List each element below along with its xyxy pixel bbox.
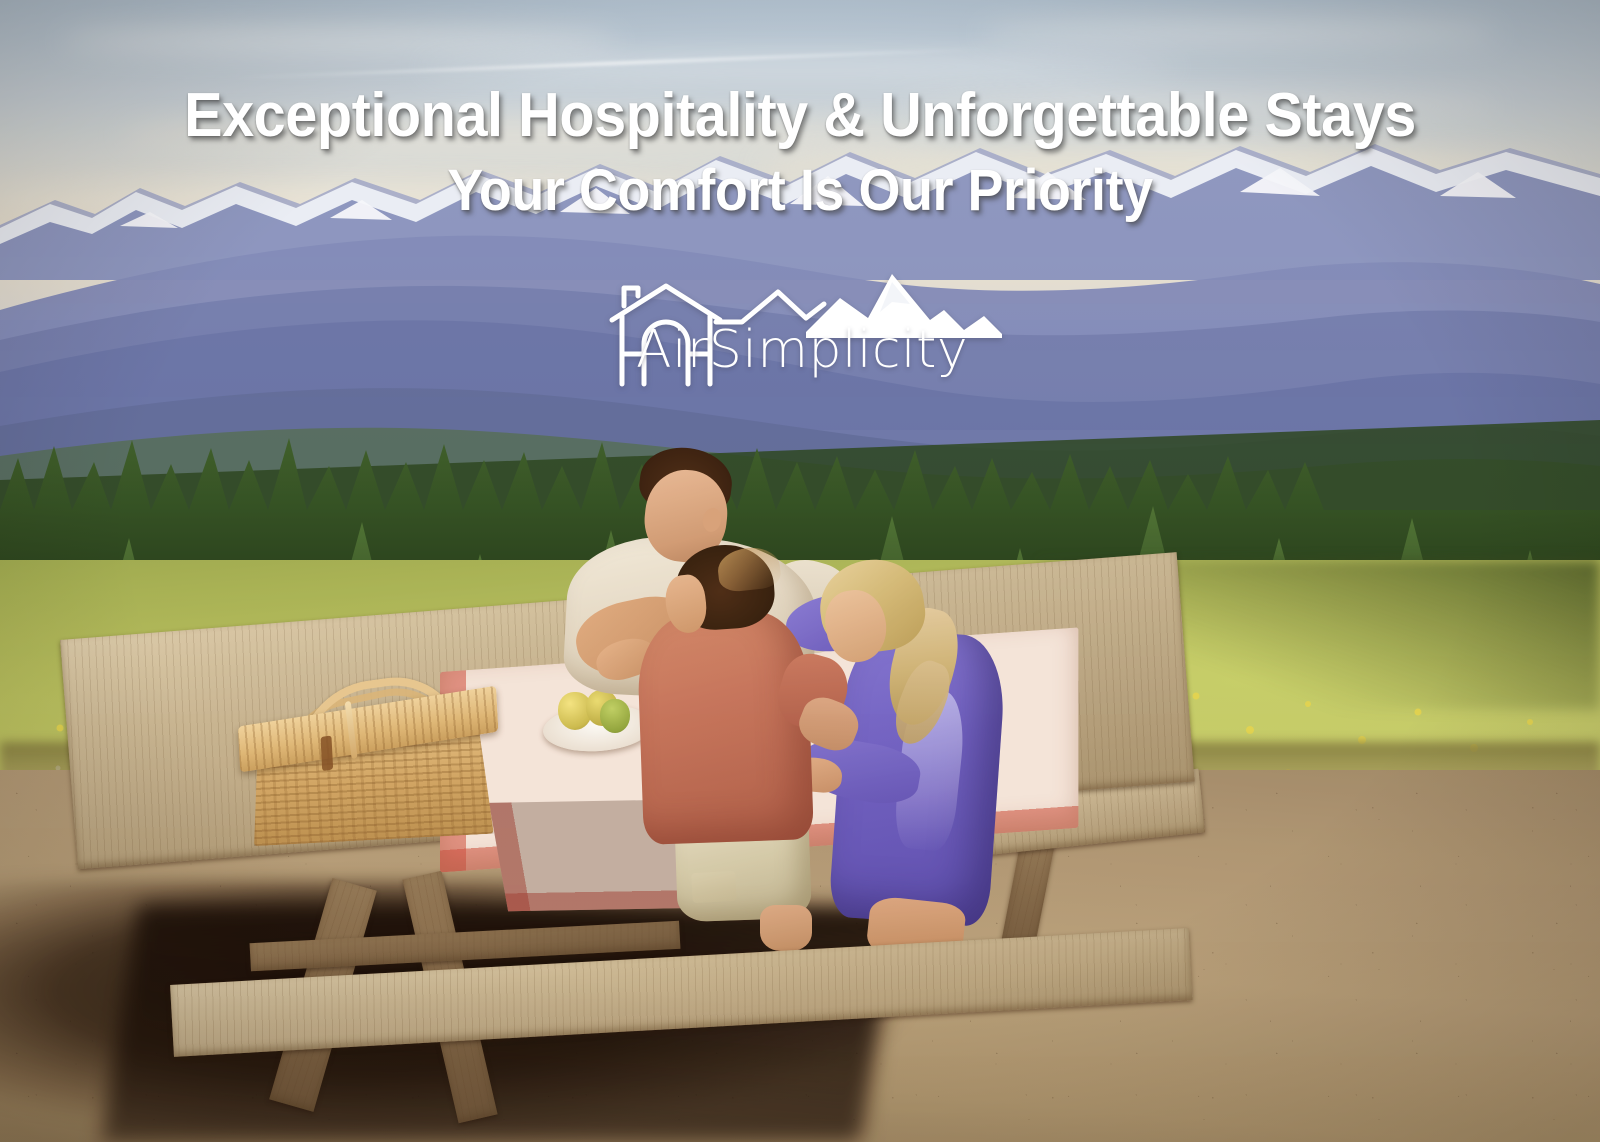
cloud xyxy=(900,96,1500,116)
brand-wordmark: AirSimplicity xyxy=(636,320,968,380)
cloud xyxy=(980,22,1500,44)
brand-logo[interactable]: AirSimplicity xyxy=(592,272,1012,394)
boy-pocket xyxy=(691,871,737,903)
wicker-picnic-basket xyxy=(236,683,503,846)
hero-banner: Exceptional Hospitality & Unforgettable … xyxy=(0,0,1600,1142)
boy-shirt xyxy=(636,609,814,845)
cloud xyxy=(60,28,620,54)
basket-strap xyxy=(320,735,333,771)
apple xyxy=(600,699,630,733)
boy-leg xyxy=(760,905,812,951)
